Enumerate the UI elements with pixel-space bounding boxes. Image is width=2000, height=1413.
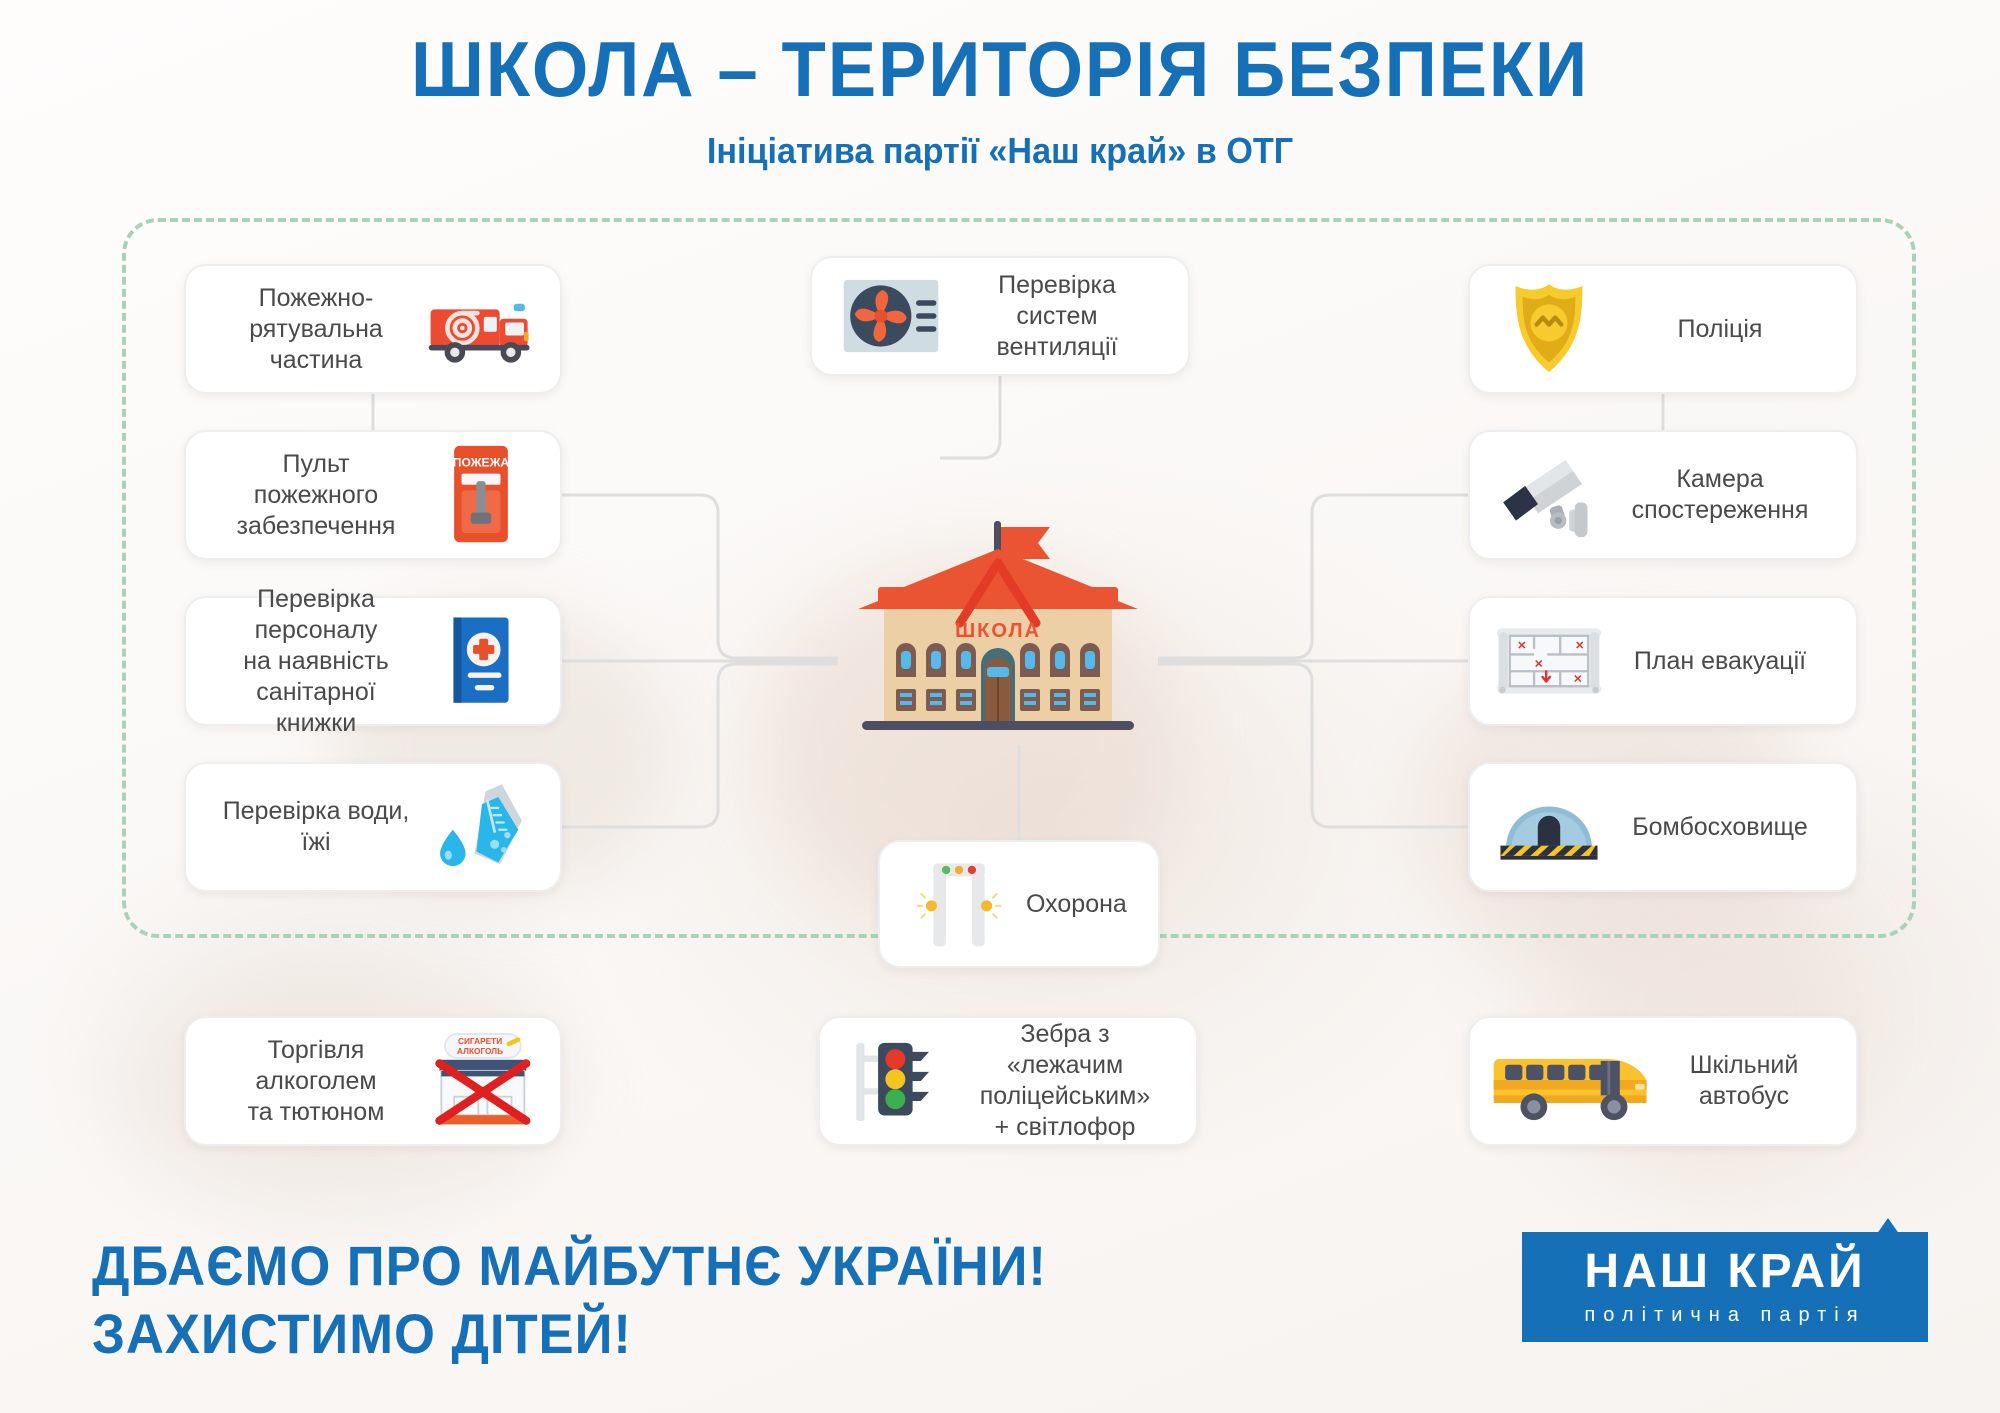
cctv-camera-icon [1488, 445, 1610, 545]
school-sign-text: ШКОЛА [955, 620, 1041, 642]
svg-text:✕: ✕ [1517, 640, 1526, 652]
fire-alarm-icon: ПОЖЕЖА [420, 445, 542, 545]
card-police[interactable]: Поліція [1468, 264, 1858, 394]
poster-subtitle: Ініціатива партії «Наш край» в ОТГ [50, 130, 1950, 172]
card-label: Торгівля алкоголем та тютюном [212, 1035, 420, 1128]
poster-canvas: ШКОЛА – ТЕРИТОРІЯ БЕЗПЕКИ Ініціатива пар… [0, 0, 2000, 1413]
card-label: Бомбосховище [1610, 812, 1830, 843]
card-alcohol-tobacco-ban[interactable]: Торгівля алкоголем та тютюном СИГАРЕТИ А… [184, 1016, 562, 1146]
card-school-bus[interactable]: Шкільний автобус [1468, 1016, 1858, 1146]
footer-slogan: ДБАЄМО ПРО МАЙБУТНЄ УКРАЇНИ! ЗАХИСТИМО Д… [92, 1232, 1047, 1369]
card-bomb-shelter[interactable]: Бомбосховище [1468, 762, 1858, 892]
card-label: План евакуації [1610, 646, 1830, 677]
card-label: Пожежно-рятувальна частина [212, 283, 420, 376]
police-badge-icon [1488, 279, 1610, 379]
logo-main-text: НАШ КРАЙ [1522, 1244, 1928, 1299]
card-surveillance-camera[interactable]: Камера спостереження [1468, 430, 1858, 560]
traffic-light-icon [838, 1031, 960, 1131]
card-evacuation-plan[interactable]: ✕ ✕ ✕ ✕ План евакуації [1468, 596, 1858, 726]
ventilation-fan-icon [830, 266, 952, 366]
metal-detector-icon [898, 854, 1020, 954]
svg-text:✕: ✕ [1573, 673, 1582, 685]
footer-slogan-line1: ДБАЄМО ПРО МАЙБУТНЄ УКРАЇНИ! [92, 1232, 1047, 1300]
card-guard[interactable]: Охорона [878, 840, 1160, 968]
card-label: Пульт пожежного забезпечення [212, 449, 420, 542]
card-label: Зебра з «лежачим поліцейським» + світлоф… [960, 1019, 1170, 1143]
card-label: Перевірка персоналу на наявність санітар… [212, 584, 420, 739]
card-label: Камера спостереження [1610, 464, 1830, 526]
card-sanitary-book[interactable]: Перевірка персоналу на наявність санітар… [184, 596, 562, 726]
no-alcohol-tobacco-shop-icon: СИГАРЕТИ АЛКОГОЛЬ [420, 1031, 542, 1131]
bomb-shelter-icon [1488, 777, 1610, 877]
card-label: Охорона [1020, 889, 1133, 920]
card-zebra-crossing[interactable]: Зебра з «лежачим поліцейським» + світлоф… [818, 1016, 1198, 1146]
footer-slogan-line2: ЗАХИСТИМО ДІТЕЙ! [92, 1300, 1047, 1368]
shop-sign-text-1: СИГАРЕТИ [458, 1036, 502, 1046]
medical-book-icon [420, 611, 542, 711]
fire-alarm-icon-text: ПОЖЕЖА [453, 455, 510, 469]
card-label: Поліція [1610, 314, 1830, 345]
card-label: Перевірка систем вентиляції [952, 270, 1162, 363]
card-fire-panel[interactable]: Пульт пожежного забезпечення ПОЖЕЖА [184, 430, 562, 560]
svg-text:✕: ✕ [1575, 640, 1584, 652]
fire-truck-icon [420, 279, 542, 379]
card-label: Шкільний автобус [1658, 1050, 1830, 1112]
poster-title: ШКОЛА – ТЕРИТОРІЯ БЕЗПЕКИ [70, 30, 1930, 108]
school-bus-icon [1488, 1031, 1658, 1131]
card-water-food-check[interactable]: Перевірка води, їжі [184, 762, 562, 892]
shop-sign-text-2: АЛКОГОЛЬ [457, 1046, 503, 1056]
card-label: Перевірка води, їжі [212, 796, 420, 858]
card-fire-station[interactable]: Пожежно-рятувальна частина [184, 264, 562, 394]
svg-text:✕: ✕ [1534, 659, 1543, 671]
logo-sub-text: політична партія [1522, 1304, 1928, 1327]
school-building-icon: ШКОЛА [838, 515, 1158, 745]
evacuation-plan-icon: ✕ ✕ ✕ ✕ [1488, 611, 1610, 711]
lab-flask-icon [420, 777, 542, 877]
logo-notch-icon [1874, 1218, 1902, 1238]
party-logo: НАШ КРАЙ політична партія [1522, 1232, 1928, 1342]
card-ventilation-check[interactable]: Перевірка систем вентиляції [810, 256, 1190, 376]
